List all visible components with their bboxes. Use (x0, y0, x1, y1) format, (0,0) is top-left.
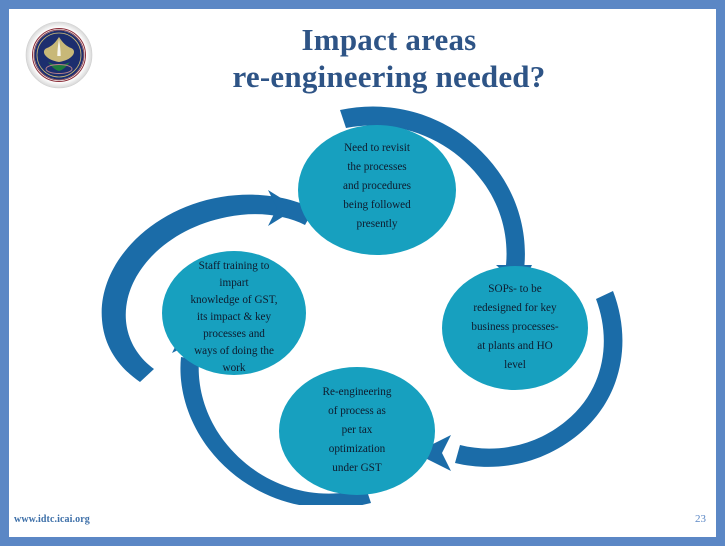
node-top-line-2: the processes (347, 161, 406, 173)
node-left-line-1: Staff training to (199, 260, 270, 272)
slide-content-area: Impact areas re-engineering needed? (9, 9, 716, 537)
node-top[interactable]: Need to revisit the processes and proced… (298, 125, 456, 255)
node-top-line-4: being followed (343, 199, 411, 211)
page-title: Impact areas re-engineering needed? (109, 21, 669, 95)
node-left-line-3: knowledge of GST, (190, 294, 277, 306)
footer-page-number: 23 (695, 513, 706, 525)
node-bottom-line-3: per tax (342, 424, 373, 436)
node-left-line-5: processes and (203, 328, 265, 340)
cycle-diagram-svg: Need to revisit the processes and proced… (9, 105, 716, 505)
node-top-line-1: Need to revisit (344, 142, 411, 154)
node-right-line-5: level (504, 359, 526, 371)
node-bottom-line-5: under GST (332, 462, 382, 474)
node-left-line-7: work (223, 362, 246, 374)
node-bottom-line-4: optimization (329, 443, 386, 455)
node-left[interactable]: Staff training to impart knowledge of GS… (162, 251, 306, 375)
node-left-line-4: its impact & key (197, 311, 272, 323)
impact-areas-cycle-diagram: Need to revisit the processes and proced… (9, 105, 716, 505)
node-bottom-line-2: of process as (328, 405, 386, 417)
node-bottom-line-1: Re-engineering (323, 386, 392, 398)
node-right-line-2: redesigned for key (473, 302, 557, 314)
node-top-line-3: and procedures (343, 180, 411, 192)
icai-emblem-logo (22, 18, 96, 92)
node-right-line-3: business processes- (471, 321, 559, 333)
page-title-line-1: Impact areas (109, 21, 669, 58)
slide-canvas: Impact areas re-engineering needed? (0, 0, 725, 546)
node-top-line-5: presently (356, 218, 397, 230)
node-left-line-6: ways of doing the (194, 345, 274, 357)
node-bottom[interactable]: Re-engineering of process as per tax opt… (279, 367, 435, 495)
node-left-line-2: impart (219, 277, 249, 289)
footer-website-link[interactable]: www.idtc.icai.org (14, 514, 90, 525)
page-title-line-2: re-engineering needed? (109, 58, 669, 95)
node-right-line-4: at plants and HO (477, 340, 553, 352)
node-right-line-1: SOPs- to be (488, 283, 541, 295)
node-right[interactable]: SOPs- to be redesigned for key business … (442, 266, 588, 390)
icai-emblem-icon (22, 18, 96, 92)
